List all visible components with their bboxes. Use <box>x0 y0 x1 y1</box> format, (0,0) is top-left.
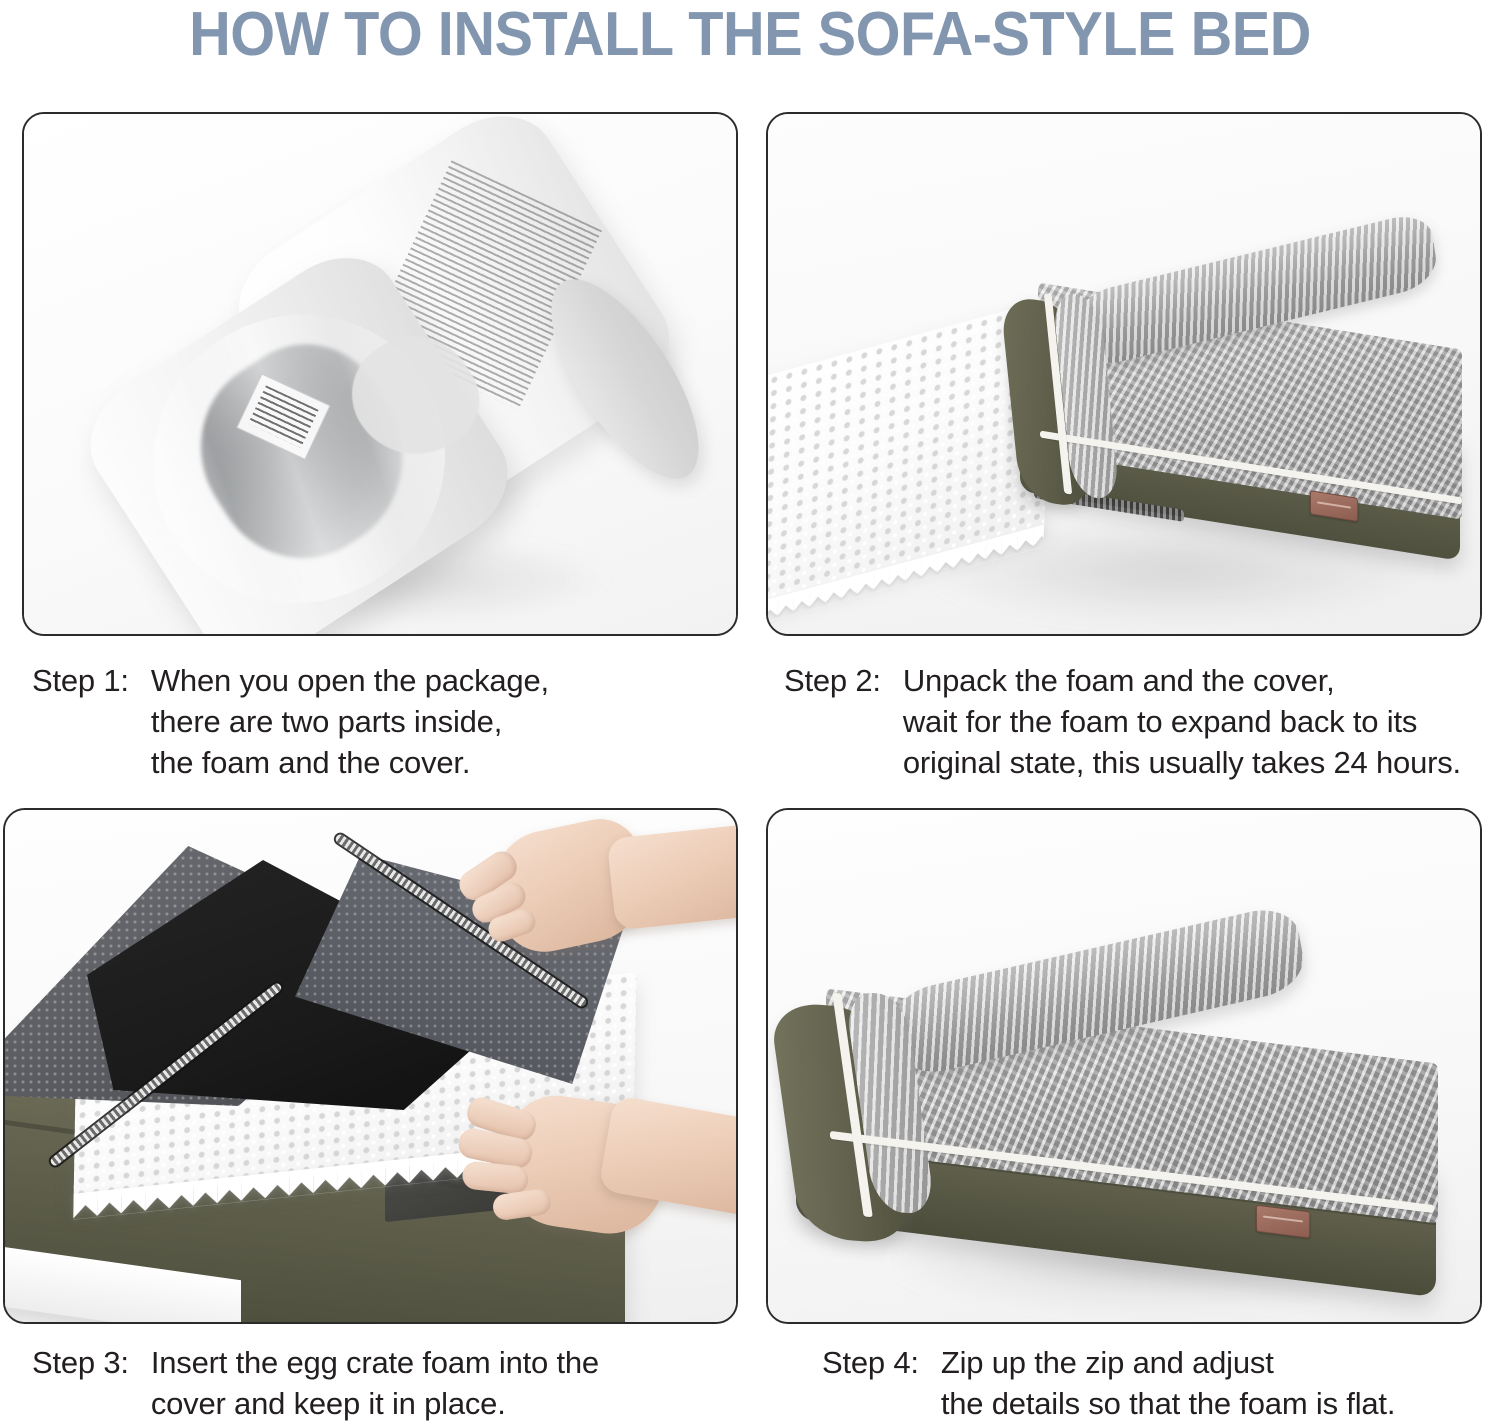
forearm-upper <box>607 821 736 930</box>
step-3-image-panel <box>3 808 738 1324</box>
photo-cover-and-foam <box>768 114 1480 634</box>
bed-cover <box>1004 256 1464 556</box>
step-2-label: Step 2: <box>784 660 903 701</box>
step-4-image-panel <box>766 808 1482 1324</box>
warning-label-lines <box>248 385 318 448</box>
photo-finished-bed <box>768 810 1480 1322</box>
photo-vacuum-sealed-rolls <box>24 114 736 634</box>
step-2-text: Unpack the foam and the cover, wait for … <box>903 660 1461 783</box>
step-4-text: Zip up the zip and adjust the details so… <box>941 1342 1395 1424</box>
step-3-text: Insert the egg crate foam into the cover… <box>151 1342 599 1424</box>
step-2-image-panel <box>766 112 1482 636</box>
step-3-caption: Step 3: Insert the egg crate foam into t… <box>32 1342 599 1424</box>
step-3-label: Step 3: <box>32 1342 151 1383</box>
step-4-label: Step 4: <box>822 1342 941 1383</box>
page-title: HOW TO INSTALL THE SOFA-STYLE BED <box>53 2 1448 68</box>
step-1-image-panel <box>22 112 738 636</box>
step-2-caption: Step 2: Unpack the foam and the cover, w… <box>784 660 1461 783</box>
photo-inserting-foam <box>5 810 736 1322</box>
step-1-label: Step 1: <box>32 660 151 701</box>
instruction-infographic: HOW TO INSTALL THE SOFA-STYLE BED <box>0 0 1500 1422</box>
step-1-text: When you open the package, there are two… <box>151 660 549 783</box>
step-1-caption: Step 1: When you open the package, there… <box>32 660 549 783</box>
step-4-caption: Step 4: Zip up the zip and adjust the de… <box>822 1342 1395 1424</box>
finished-sofa-style-bed <box>786 930 1466 1310</box>
